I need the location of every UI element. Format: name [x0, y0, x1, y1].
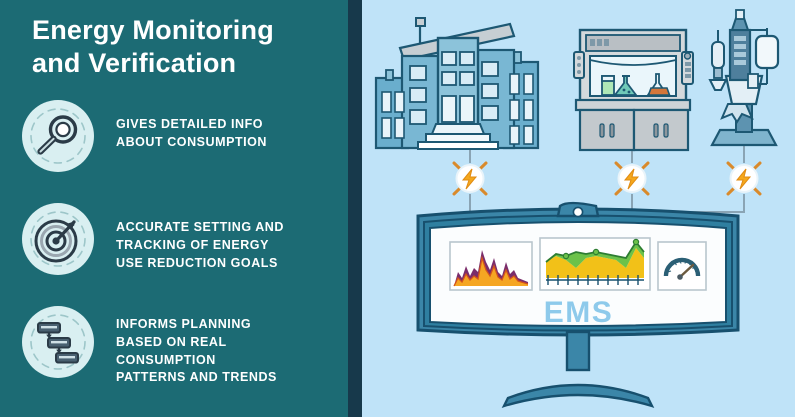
diagram-svg [362, 0, 795, 417]
infographic-page: Energy Monitoring and Verification GIVES… [0, 0, 795, 417]
energy-bolt-3 [728, 163, 760, 194]
feature-item-planning: INFORMS PLANNING BASED ON REAL CONSUMPTI… [22, 306, 342, 387]
ems-screen-label: EMS [362, 296, 795, 330]
page-title: Energy Monitoring and Verification [32, 14, 332, 80]
area-chart-widget[interactable] [450, 242, 532, 290]
feature-line: CONSUMPTION [116, 352, 277, 370]
office-building [376, 18, 538, 149]
feature-line: BASED ON REAL [116, 334, 277, 352]
energy-bolt-2 [616, 163, 648, 194]
feature-line: GIVES DETAILED INFO [116, 116, 267, 134]
feature-line: USE REDUCTION GOALS [116, 255, 284, 273]
gauge-widget[interactable] [658, 242, 706, 290]
feature-line: INFORMS PLANNING [116, 316, 277, 334]
laboratory-fume-hood [574, 30, 693, 150]
energy-bolt-1 [454, 163, 486, 194]
industrial-machine [710, 10, 778, 145]
feature-label-detailed-info: GIVES DETAILED INFO ABOUT CONSUMPTION [116, 116, 267, 152]
title-line-2: and Verification [32, 47, 332, 80]
feature-label-goal-tracking: ACCURATE SETTING AND TRACKING OF ENERGY … [116, 219, 284, 272]
feature-item-detailed-info: GIVES DETAILED INFO ABOUT CONSUMPTION [22, 100, 342, 172]
feature-line: ABOUT CONSUMPTION [116, 134, 267, 152]
line-chart-widget[interactable] [540, 238, 650, 290]
diagram-panel: EMS [362, 0, 795, 417]
feature-label-planning: INFORMS PLANNING BASED ON REAL CONSUMPTI… [116, 316, 277, 387]
target-dart-icon [22, 203, 94, 275]
title-line-1: Energy Monitoring [32, 14, 332, 47]
feature-line: PATTERNS AND TRENDS [116, 369, 277, 387]
flowchart-icon [22, 306, 94, 378]
feature-line: TRACKING OF ENERGY [116, 237, 284, 255]
feature-line: ACCURATE SETTING AND [116, 219, 284, 237]
panel-divider [348, 0, 362, 417]
magnifier-icon [22, 100, 94, 172]
feature-item-goal-tracking: ACCURATE SETTING AND TRACKING OF ENERGY … [22, 203, 342, 275]
